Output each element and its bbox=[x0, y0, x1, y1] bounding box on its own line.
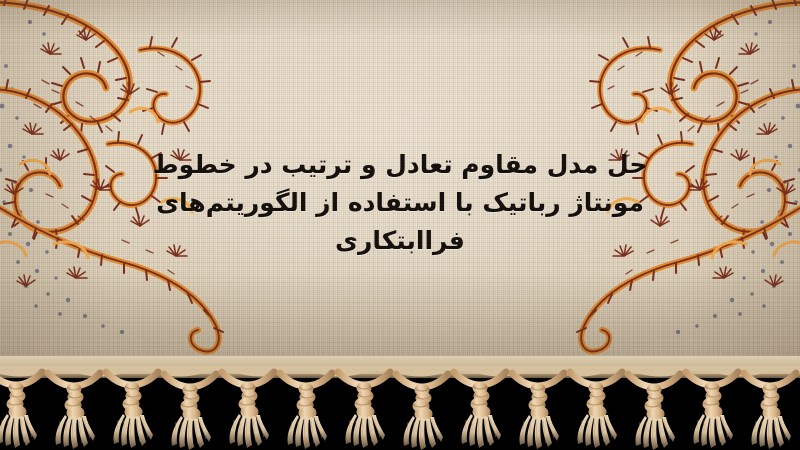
title-line-1: حل مدل مقاوم تعادل و ترتیب در خطوط bbox=[0, 146, 800, 184]
tassel-fringe bbox=[0, 366, 800, 450]
title-slide: حل مدل مقاوم تعادل و ترتیب در خطوط مونتا… bbox=[0, 0, 800, 450]
title-line-2: مونتاژ رباتیک با استفاده از الگوریتم‌های bbox=[0, 184, 800, 222]
title-line-3: فراابتکاری bbox=[0, 222, 800, 260]
title-block: حل مدل مقاوم تعادل و ترتیب در خطوط مونتا… bbox=[0, 146, 800, 260]
